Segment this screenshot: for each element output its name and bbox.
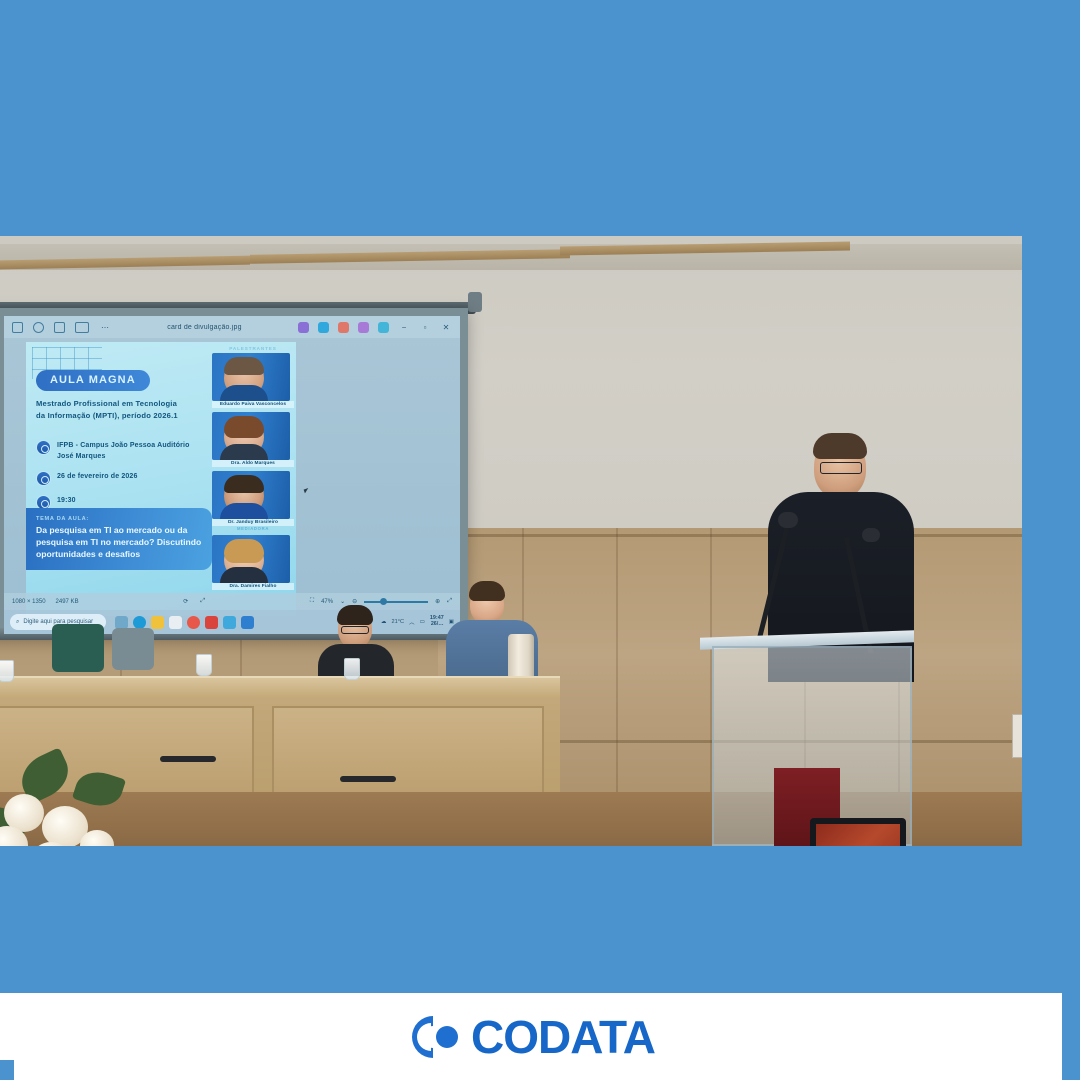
chevron-down-icon[interactable]: ⌄: [340, 598, 345, 605]
promotional-slide-image: AULA MAGNA Mestrado Profissional em Tecn…: [26, 342, 296, 616]
panelist-hair: [337, 605, 373, 625]
store-icon[interactable]: [169, 616, 182, 629]
magic-wand-icon[interactable]: [298, 322, 309, 333]
mouse-pointer-icon: [304, 487, 314, 494]
network-icon[interactable]: ▭: [420, 619, 425, 625]
fit-icon[interactable]: ⤢: [200, 598, 205, 605]
water-glass: [196, 654, 212, 676]
rotate-icon[interactable]: [12, 322, 23, 333]
glasses-icon: [820, 462, 862, 474]
speaker-head: [814, 436, 866, 498]
chair: [52, 624, 104, 672]
search-icon: ⌕: [16, 619, 19, 626]
speaker-name: Eduardo Paiva Vasconcelos: [212, 401, 294, 408]
codata-logo: CODATA: [0, 1012, 1062, 1062]
projected-desktop: ⋯ card de divulgação.jpg − ▫ ✕ AULA MAGN…: [4, 316, 460, 634]
water-glass: [344, 658, 360, 680]
image-icon[interactable]: [318, 322, 329, 333]
event-photo: ⋯ card de divulgação.jpg − ▫ ✕ AULA MAGN…: [0, 236, 1022, 846]
zoom-out-icon[interactable]: ⊖: [352, 598, 357, 605]
explorer-icon[interactable]: [151, 616, 164, 629]
crt-monitor: [810, 818, 906, 846]
speaker-name: Dra. Aldo Marques: [212, 460, 294, 467]
close-button[interactable]: ✕: [440, 323, 452, 332]
edge-icon[interactable]: [133, 616, 146, 629]
more-icon[interactable]: ⋯: [99, 323, 111, 332]
slide-info-item: 26 de fevereiro de 2026: [36, 471, 196, 486]
slide-info-text: 19:30: [57, 495, 76, 507]
footer-accent-corner: [0, 1060, 14, 1080]
editor-icon[interactable]: [241, 616, 254, 629]
image-file-size: 2497 KB: [56, 599, 79, 605]
speaker-card: Dr. Janduy Brasileiro MEDIADORA: [212, 471, 294, 531]
projector-screen-side-cap: [468, 292, 482, 312]
zoom-slider[interactable]: [364, 601, 428, 603]
minimize-button[interactable]: −: [398, 323, 410, 332]
chair: [112, 628, 154, 670]
microphone-icon: [862, 528, 880, 542]
slide-theme-box: TEMA DA AULA: Da pesquisa em TI ao merca…: [26, 508, 212, 570]
glasses-icon: [341, 626, 369, 634]
slide-badge: AULA MAGNA: [36, 370, 150, 391]
codata-c-dot-logo-icon: [407, 1012, 465, 1062]
mediator-header: MEDIADORA: [212, 526, 294, 531]
undo-icon[interactable]: [33, 322, 44, 333]
panelist-hair: [469, 581, 505, 601]
taskbar-app-icons: [115, 616, 254, 629]
compare-icon[interactable]: [75, 322, 89, 333]
footer-accent-right: [1062, 993, 1080, 1047]
speaker-card: Dra. Damires Fialho: [212, 535, 294, 590]
water-glass: [0, 660, 14, 682]
slide-info-item: IFPB - Campus João Pessoa Auditório José…: [36, 440, 196, 462]
speaker-card: Eduardo Paiva Vasconcelos: [212, 353, 294, 408]
maximize-button[interactable]: ▫: [419, 323, 431, 332]
panel-table-front-edge: [0, 676, 560, 698]
codata-logo-text: CODATA: [471, 1014, 655, 1060]
panelist-head: [470, 584, 504, 624]
speaker-photo: [212, 353, 290, 401]
speaker-name: Dra. Damires Fialho: [212, 583, 294, 590]
chrome-icon[interactable]: [187, 616, 200, 629]
crop-icon[interactable]: [54, 322, 65, 333]
speaker-photo: [212, 535, 290, 583]
chair-base: [340, 776, 396, 782]
monitor-screen: [816, 824, 900, 846]
edit-icon[interactable]: [378, 322, 389, 333]
slide-speakers-column: PALESTRANTES Eduardo Paiva Vasconcelos: [212, 346, 294, 594]
pdf-icon[interactable]: [205, 616, 218, 629]
speaker-photo: [212, 412, 290, 460]
slide-info-text: 26 de fevereiro de 2026: [57, 471, 138, 483]
photos-app-titlebar: ⋯ card de divulgação.jpg − ▫ ✕: [4, 316, 460, 338]
widgets-icon[interactable]: [115, 616, 128, 629]
photos-app-filename: card de divulgação.jpg: [121, 324, 288, 331]
speaker-name: Dr. Janduy Brasileiro: [212, 519, 294, 526]
delete-icon[interactable]: [358, 322, 369, 333]
speaker-hair: [813, 433, 867, 459]
microphone-icon: [778, 512, 798, 528]
photos-icon[interactable]: [223, 616, 236, 629]
image-dimensions: 1080 × 1350: [12, 599, 46, 605]
calendar-icon: [36, 471, 51, 486]
fullscreen-icon[interactable]: ⛶: [310, 598, 314, 605]
poster-frame: ⋯ card de divulgação.jpg − ▫ ✕ AULA MAGN…: [0, 0, 1080, 1080]
rotate-icon[interactable]: ⟳: [183, 598, 188, 605]
zoom-slider-knob[interactable]: [380, 598, 387, 605]
zoom-in-icon[interactable]: ⊕: [435, 598, 440, 605]
speakers-header: PALESTRANTES: [212, 346, 294, 351]
taskbar-clock-date: 26/…: [430, 622, 444, 628]
share-icon[interactable]: [338, 322, 349, 333]
slide-subtitle: Mestrado Profissional em Tecnologia da I…: [36, 398, 186, 422]
slide-theme-label: TEMA DA AULA:: [36, 516, 202, 522]
panelist-head: [338, 608, 372, 648]
podium: [712, 646, 912, 846]
slide-theme-text: Da pesquisa em TI ao mercado ou da pesqu…: [36, 525, 202, 561]
location-icon: [36, 440, 51, 455]
zoom-level: 47%: [321, 599, 333, 605]
wall-plate: [1012, 714, 1022, 758]
slide-info-text: IFPB - Campus João Pessoa Auditório José…: [57, 440, 196, 462]
speaker-photo: [212, 471, 290, 519]
flower-arrangement: [0, 756, 170, 846]
speaker-card: Dra. Aldo Marques: [212, 412, 294, 467]
